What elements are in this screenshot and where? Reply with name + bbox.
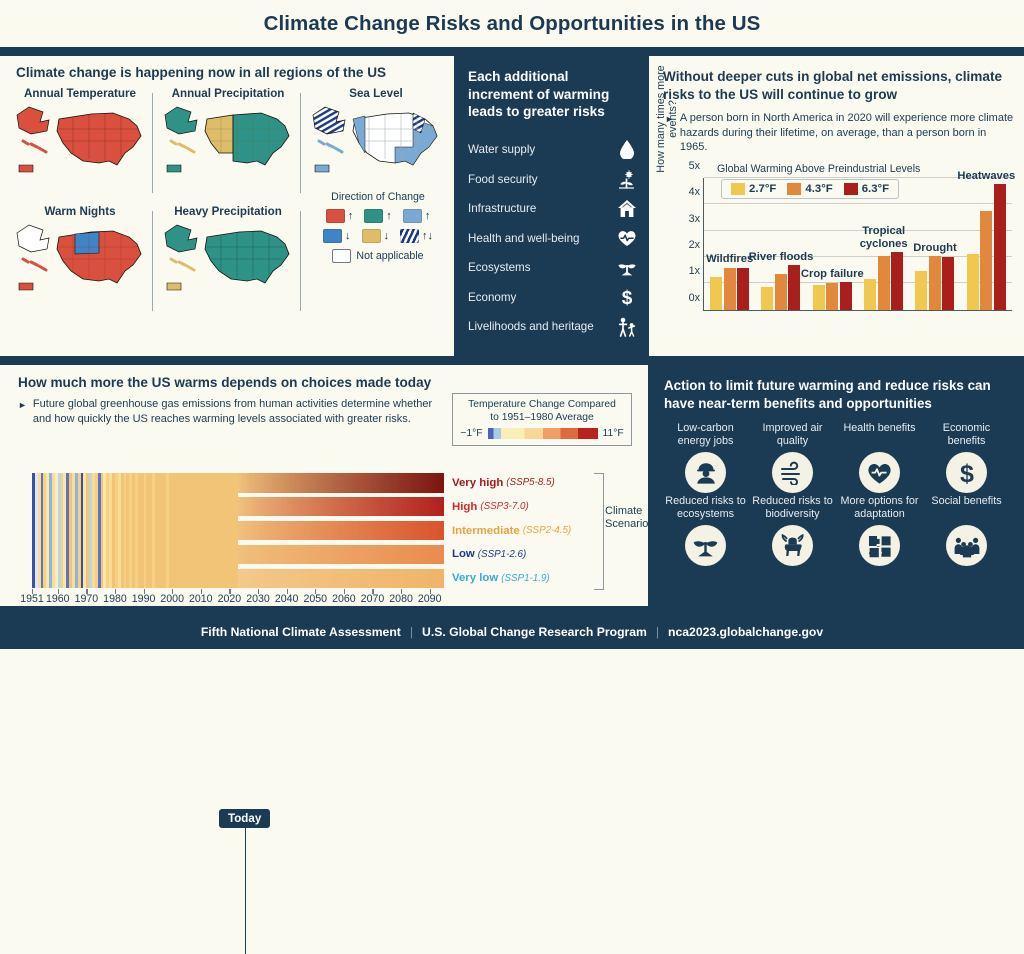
action-panel: Action to limit future warming and reduc… (648, 365, 1024, 606)
map-label: Annual Precipitation (158, 87, 298, 100)
heart-pulse-icon (616, 228, 637, 249)
bar (761, 287, 773, 309)
legend-row-one: ↑ ↑ ↑ (311, 209, 445, 223)
scenario-name: Low (452, 548, 475, 560)
legend-na-label: Not applicable (356, 250, 423, 262)
legend-item-hatched-updown: ↑↓ (400, 229, 433, 243)
scenario-band-2 (238, 521, 444, 541)
action-item-social-benefits: Social benefits (923, 495, 1010, 566)
action-label: Economic benefits (923, 422, 1010, 448)
maps-panel-title: Climate change is happening now in all r… (16, 64, 454, 81)
risk-item-livelihoods: Livelihoods and heritage (468, 312, 637, 342)
map-divider (300, 93, 301, 193)
y-tick-2: 2x (689, 239, 700, 251)
scenario-band-4 (238, 569, 444, 589)
legend-swatch (323, 229, 342, 243)
map-divider (152, 93, 153, 193)
legend-label: 6.3°F (862, 183, 889, 195)
bar (775, 274, 787, 310)
action-label: Social benefits (923, 495, 1010, 521)
x-tick-label: 1951 (20, 593, 44, 605)
risk-label: Livelihoods and heritage (468, 320, 594, 333)
scenario-row-4: Very low(SSP1-1.9) (452, 569, 602, 589)
legend-entry-4-3f: 4.3°F (787, 183, 832, 195)
moose-icon (772, 525, 813, 566)
temp-scale-bar-row: −1°F 11°F (459, 428, 625, 439)
legend-swatch (362, 229, 381, 243)
page-header: Climate Change Risks and Opportunities i… (0, 0, 1024, 47)
wind-icon (772, 452, 813, 493)
legend-row-two: ↓ ↓ ↑↓ (311, 229, 445, 243)
row-two: How much more the US warms depends on ch… (0, 365, 1024, 606)
scenario-row-2: Intermediate(SSP2-4.5) (452, 521, 602, 541)
house-icon (616, 198, 637, 219)
map-sea-level: Sea Level (306, 87, 446, 177)
brace-label-line1: Climate (605, 505, 654, 518)
action-label: Reduced risks to biodiversity (749, 495, 836, 521)
risk-label: Infrastructure (468, 202, 536, 215)
growth-bullet: ► A person born in North America in 2020… (665, 111, 1014, 155)
historical-stripes (32, 473, 238, 588)
scenario-row-0: Very high(SSP5-8.5) (452, 473, 602, 493)
y-tick-4: 4x (689, 186, 700, 198)
risk-item-economy: Economy $ (468, 283, 637, 313)
scenario-name: Very low (452, 572, 498, 584)
page-footer: Fifth National Climate Assessment | U.S.… (0, 615, 1024, 649)
bar (980, 211, 992, 310)
scenario-name: Very high (452, 477, 503, 489)
temp-scale-max: 11°F (603, 428, 624, 439)
svg-text:$: $ (621, 288, 632, 307)
heart-pulse-icon (859, 452, 900, 493)
temp-scale-title-line1: Temperature Change Compared (459, 399, 625, 412)
action-item-air-quality: Improved air quality (749, 422, 836, 493)
stripes-bullet: ► Future global greenhouse gas emissions… (18, 397, 448, 426)
warming-stripe (441, 497, 444, 517)
map-divider (152, 211, 153, 311)
chart-ylabel: How many times more events? (655, 55, 679, 183)
growth-panel-title: Without deeper cuts in global net emissi… (663, 68, 1014, 104)
svg-text:$: $ (960, 460, 974, 486)
map-label: Annual Temperature (10, 87, 150, 100)
stripes-panel: How much more the US warms depends on ch… (0, 365, 648, 606)
scenario-row-3: Low(SSP1-2.6) (452, 545, 602, 565)
scenario-name: High (452, 501, 477, 513)
legend-item-lightblue-up: ↑ (403, 209, 431, 223)
hazard-frequency-chart: Global Warming Above Preindustrial Level… (659, 163, 1014, 333)
legend-arrow: ↑ (348, 211, 354, 222)
worker-icon (685, 452, 726, 493)
action-label: Health benefits (836, 422, 923, 448)
us-map-shape (309, 103, 443, 177)
action-item-low-carbon-jobs: Low-carbon energy jobs (662, 422, 749, 493)
risk-label: Economy (468, 291, 516, 304)
legend-label: 2.7°F (749, 183, 776, 195)
page-title: Climate Change Risks and Opportunities i… (264, 12, 761, 36)
legend-entry-6-3f: 6.3°F (844, 183, 889, 195)
legend-title: Direction of Change (311, 191, 445, 203)
divider-bottom (0, 606, 1024, 615)
scenario-ssp: (SSP1-1.9) (501, 573, 549, 584)
stripes-bullet-text: Future global greenhouse gas emissions f… (33, 397, 448, 426)
y-tick-3: 3x (689, 213, 700, 225)
seedling-icon (616, 257, 637, 278)
maps-panel: Climate change is happening now in all r… (0, 56, 454, 356)
legend-item-gold-down: ↓ (362, 229, 390, 243)
today-line (245, 828, 247, 954)
bar (724, 268, 736, 310)
infographic-page: Climate Change Risks and Opportunities i… (0, 0, 1024, 649)
footer-url[interactable]: nca2023.globalchange.gov (659, 625, 832, 639)
action-panel-title: Action to limit future warming and reduc… (664, 377, 1010, 412)
water-drop-icon (616, 139, 637, 160)
action-label: More options for adaptation (836, 495, 923, 521)
x-tick-label: 2060 (332, 593, 356, 605)
scenario-ssp: (SSP5-8.5) (506, 477, 554, 488)
future-scenario-bands (238, 473, 444, 588)
legend-swatch (787, 183, 801, 195)
risk-item-health: Health and well-being (468, 224, 637, 254)
bar-group: Drought (909, 178, 960, 310)
scenario-brace-label: Climate Scenarios (605, 505, 654, 532)
map-annual-precipitation: Annual Precipitation (158, 87, 298, 177)
legend-item-teal-up: ↑ (364, 209, 392, 223)
map-label: Warm Nights (10, 205, 150, 218)
action-item-economic-benefits: Economic benefits $ (923, 422, 1010, 493)
chart-title: Global Warming Above Preindustrial Level… (717, 163, 920, 175)
action-item-adaptation-options: More options for adaptation (836, 495, 923, 566)
warming-stripe (441, 473, 444, 493)
legend-item-blue-down: ↓ (323, 229, 351, 243)
bar (878, 256, 890, 310)
bar (826, 283, 838, 309)
x-tick-label: 1970 (75, 593, 99, 605)
x-tick-label: 2090 (418, 593, 442, 605)
warming-stripe (441, 569, 444, 589)
brace-label-line2: Scenarios (605, 518, 654, 531)
bar-group-label: Heatwaves (940, 170, 1024, 182)
scenario-brace (594, 473, 604, 590)
puzzle-icon (859, 525, 900, 566)
bar (710, 277, 722, 310)
scenario-ssp: (SSP2-4.5) (523, 525, 571, 536)
legend-swatch (326, 209, 345, 223)
action-label: Low-carbon energy jobs (662, 422, 749, 448)
legend-label: 4.3°F (805, 183, 832, 195)
y-tick-0: 0x (689, 292, 700, 304)
action-item-reduced-risks-biodiversity: Reduced risks to biodiversity (749, 495, 836, 566)
dollar-sign-icon: $ (616, 287, 637, 308)
bar (840, 282, 852, 310)
bar (994, 184, 1006, 309)
map-heavy-precipitation: Heavy Precipitation (158, 205, 298, 295)
footer-assessment: Fifth National Climate Assessment (192, 625, 410, 639)
scenario-ssp: (SSP3-7.0) (480, 501, 528, 512)
action-items-grid: Low-carbon energy jobs Improved air qual… (662, 422, 1010, 568)
bar (813, 285, 825, 310)
us-map-shape (13, 221, 147, 295)
growth-bullet-text: A person born in North America in 2020 w… (680, 111, 1014, 155)
risk-label: Ecosystems (468, 261, 531, 274)
map-label: Heavy Precipitation (158, 205, 298, 218)
x-tick-label: 2040 (275, 593, 299, 605)
seedling-icon (685, 525, 726, 566)
chart-legend: 2.7°F 4.3°F 6.3°F (721, 179, 899, 199)
bar (967, 254, 979, 309)
dollar-sign-icon: $ (946, 452, 987, 493)
scenario-ssp: (SSP1-2.6) (478, 549, 526, 560)
legend-arrow: ↑ (425, 211, 431, 222)
action-item-reduced-risks-ecosystems: Reduced risks to ecosystems (662, 495, 749, 566)
row-one: Climate change is happening now in all r… (0, 56, 1024, 356)
legend-swatch (400, 229, 419, 243)
legend-arrow: ↓ (345, 231, 351, 242)
map-label: Sea Level (306, 87, 446, 100)
today-label: Today (219, 809, 270, 828)
risk-item-water-supply: Water supply (468, 135, 637, 165)
x-tick-label: 2080 (389, 593, 413, 605)
warming-stripes (32, 473, 444, 588)
scenario-band-1 (238, 497, 444, 517)
x-tick-label: 1980 (103, 593, 127, 605)
maps-grid: Annual Temperature Annual Precipitation (0, 87, 454, 337)
x-tick-label: 2000 (160, 593, 184, 605)
temperature-scale-legend: Temperature Change Compared to 1951–1980… (452, 393, 632, 446)
risks-panel: Each additional increment of warming lea… (454, 56, 649, 356)
legend-swatch (731, 183, 745, 195)
people-icon (616, 316, 637, 337)
x-tick-label: 1960 (46, 593, 70, 605)
triangle-bullet-icon: ► (18, 397, 27, 426)
temp-scale-title-line2: to 1951–1980 Average (459, 412, 625, 425)
legend-arrow: ↓ (384, 231, 390, 242)
direction-of-change-legend: Direction of Change ↑ ↑ ↑ (311, 191, 445, 263)
risk-label: Food security (468, 173, 538, 186)
divider-top (0, 47, 1024, 56)
crop-plant-icon (616, 169, 637, 190)
us-map-shape (161, 103, 295, 177)
bar (915, 271, 927, 309)
legend-swatch (364, 209, 383, 223)
y-tick-5: 5x (689, 160, 700, 172)
risk-item-infrastructure: Infrastructure (468, 194, 637, 224)
y-tick-1: 1x (689, 265, 700, 277)
scenario-row-1: High(SSP3-7.0) (452, 497, 602, 517)
bar (929, 256, 941, 310)
bar-group: Heatwaves (961, 178, 1012, 310)
scenario-name: Intermediate (452, 525, 520, 537)
risk-item-food-security: Food security (468, 165, 637, 195)
legend-arrow: ↑↓ (422, 231, 433, 242)
legend-swatch (844, 183, 858, 195)
x-tick-label: 2070 (361, 593, 385, 605)
x-tick-label: 2020 (218, 593, 242, 605)
footer-program: U.S. Global Change Research Program (413, 625, 656, 639)
divider-middle (0, 356, 1024, 365)
risks-panel-title: Each additional increment of warming lea… (468, 68, 637, 121)
legend-not-applicable: Not applicable (311, 249, 445, 263)
us-map-shape (161, 221, 295, 295)
x-tick-label: 2050 (303, 593, 327, 605)
stripes-panel-title: How much more the US warms depends on ch… (18, 374, 648, 391)
map-annual-temperature: Annual Temperature (10, 87, 150, 177)
risk-label: Water supply (468, 143, 535, 156)
legend-arrow: ↑ (386, 211, 392, 222)
scenario-band-3 (238, 545, 444, 565)
risk-item-ecosystems: Ecosystems (468, 253, 637, 283)
x-tick-label: 2030 (246, 593, 270, 605)
legend-swatch (403, 209, 422, 223)
legend-entry-2-7f: 2.7°F (731, 183, 776, 195)
map-divider (300, 211, 301, 311)
risk-label: Health and well-being (468, 232, 580, 245)
scenario-band-0 (238, 473, 444, 493)
temp-scale-gradient (488, 428, 598, 439)
growth-panel: Without deeper cuts in global net emissi… (649, 56, 1024, 356)
x-tick-label: 1990 (132, 593, 156, 605)
warming-stripe (441, 545, 444, 565)
map-warm-nights: Warm Nights (10, 205, 150, 295)
us-map-shape (13, 103, 147, 177)
legend-swatch (332, 249, 351, 263)
bar (864, 279, 876, 309)
scenario-legend: Very high(SSP5-8.5)High(SSP3-7.0)Interme… (452, 473, 602, 592)
action-label: Improved air quality (749, 422, 836, 448)
action-item-health-benefits: Health benefits (836, 422, 923, 493)
action-label: Reduced risks to ecosystems (662, 495, 749, 521)
bar (737, 268, 749, 310)
x-tick-label: 2010 (189, 593, 213, 605)
today-marker: Today (219, 809, 270, 828)
bar (942, 257, 954, 310)
warming-stripe (441, 521, 444, 541)
legend-item-red-up: ↑ (326, 209, 354, 223)
temp-scale-min: −1°F (460, 428, 482, 439)
group-people-icon (946, 525, 987, 566)
bar (891, 252, 903, 310)
